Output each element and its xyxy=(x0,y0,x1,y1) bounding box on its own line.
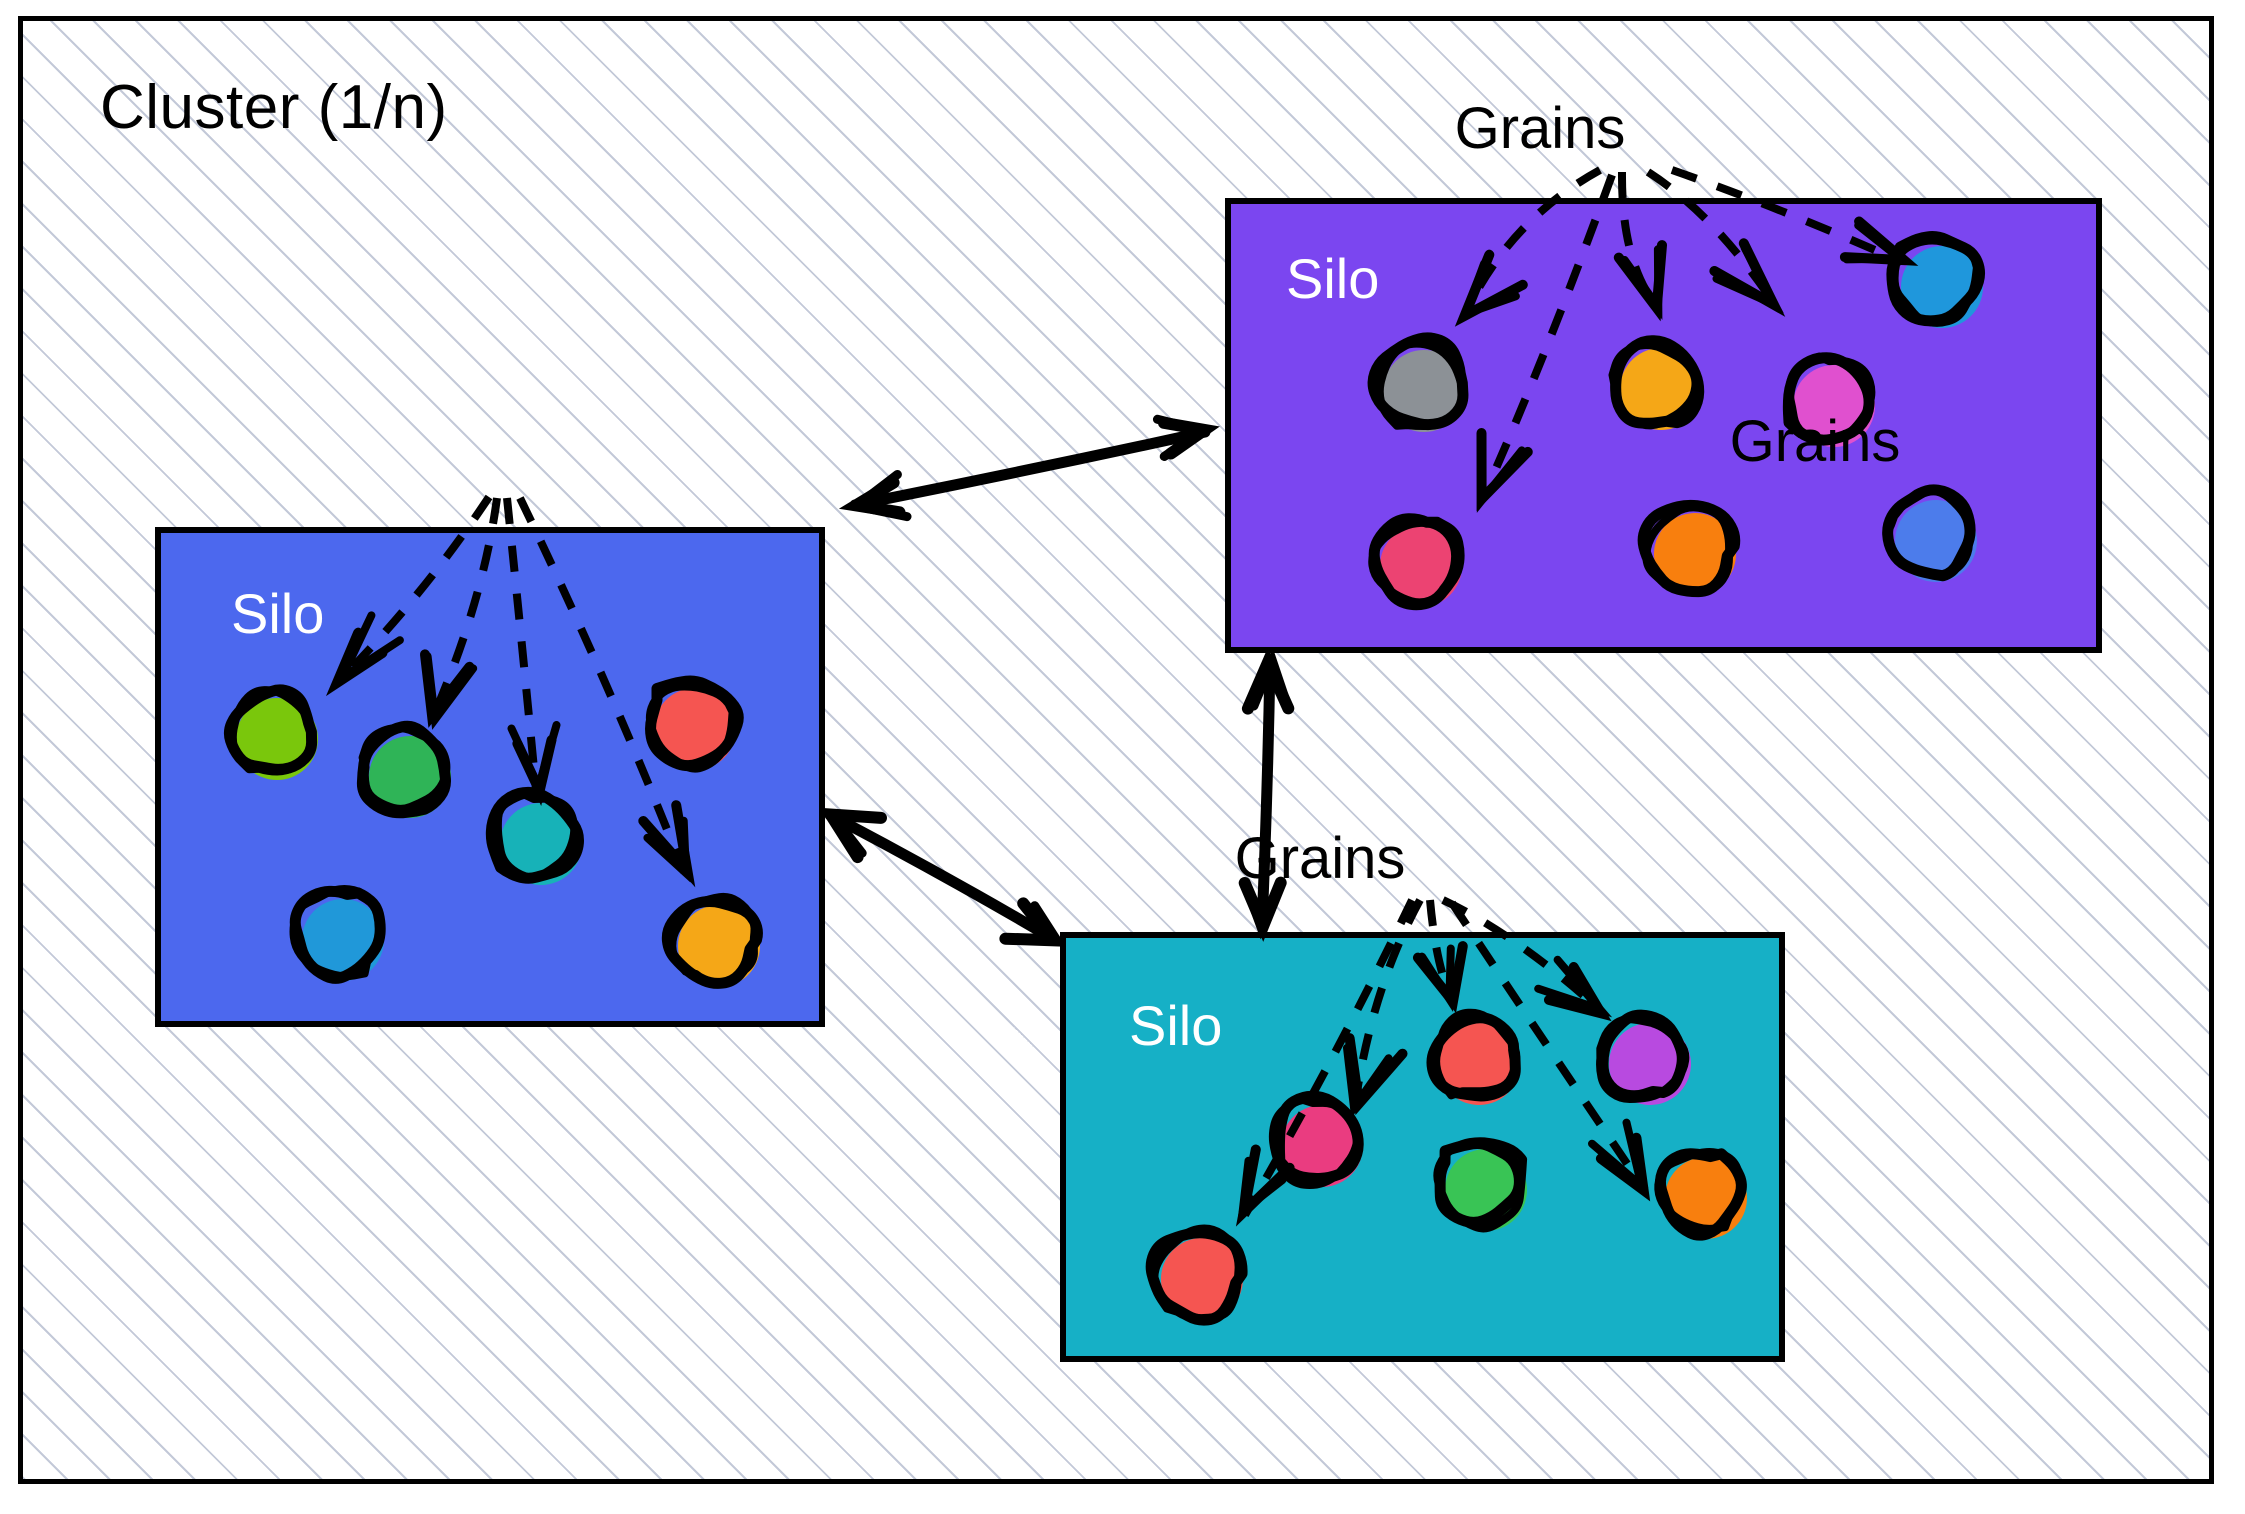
silo-label: Silo xyxy=(231,581,324,646)
grain-gray xyxy=(1376,343,1471,438)
grain-pink xyxy=(1370,515,1472,617)
grain-amber xyxy=(1618,346,1704,432)
silo-teal[interactable]: Silo xyxy=(1060,932,1785,1362)
grain-crimson xyxy=(1151,1228,1253,1330)
grain-azure xyxy=(1896,241,1987,332)
diagram-canvas: Cluster (1/n) SiloSiloSilo GrainsGrainsG… xyxy=(0,0,2245,1514)
cluster-title: Cluster (1/n) xyxy=(100,72,448,143)
silo-purple[interactable]: Silo xyxy=(1225,198,2102,653)
grain-green xyxy=(1434,1138,1537,1241)
grain-blue xyxy=(301,898,385,982)
grains-label: Grains xyxy=(1730,408,1901,475)
grain-red xyxy=(648,682,742,776)
grains-label: Grains xyxy=(1235,825,1406,892)
grain-orange xyxy=(1655,1147,1756,1248)
grain-green xyxy=(365,732,454,821)
silo-label: Silo xyxy=(1286,246,1379,311)
grain-orange xyxy=(1645,504,1745,604)
grain-teal xyxy=(496,799,587,890)
grain-magenta xyxy=(1607,1021,1693,1107)
grain-pink xyxy=(1276,1100,1368,1192)
grains-label: Grains xyxy=(1455,95,1626,162)
silo-blue[interactable]: Silo xyxy=(155,527,825,1027)
grain-lime xyxy=(228,690,325,787)
grain-amber xyxy=(673,900,765,992)
grain-blue xyxy=(1894,499,1978,583)
grain-red xyxy=(1435,1020,1523,1108)
silo-label: Silo xyxy=(1129,993,1222,1058)
